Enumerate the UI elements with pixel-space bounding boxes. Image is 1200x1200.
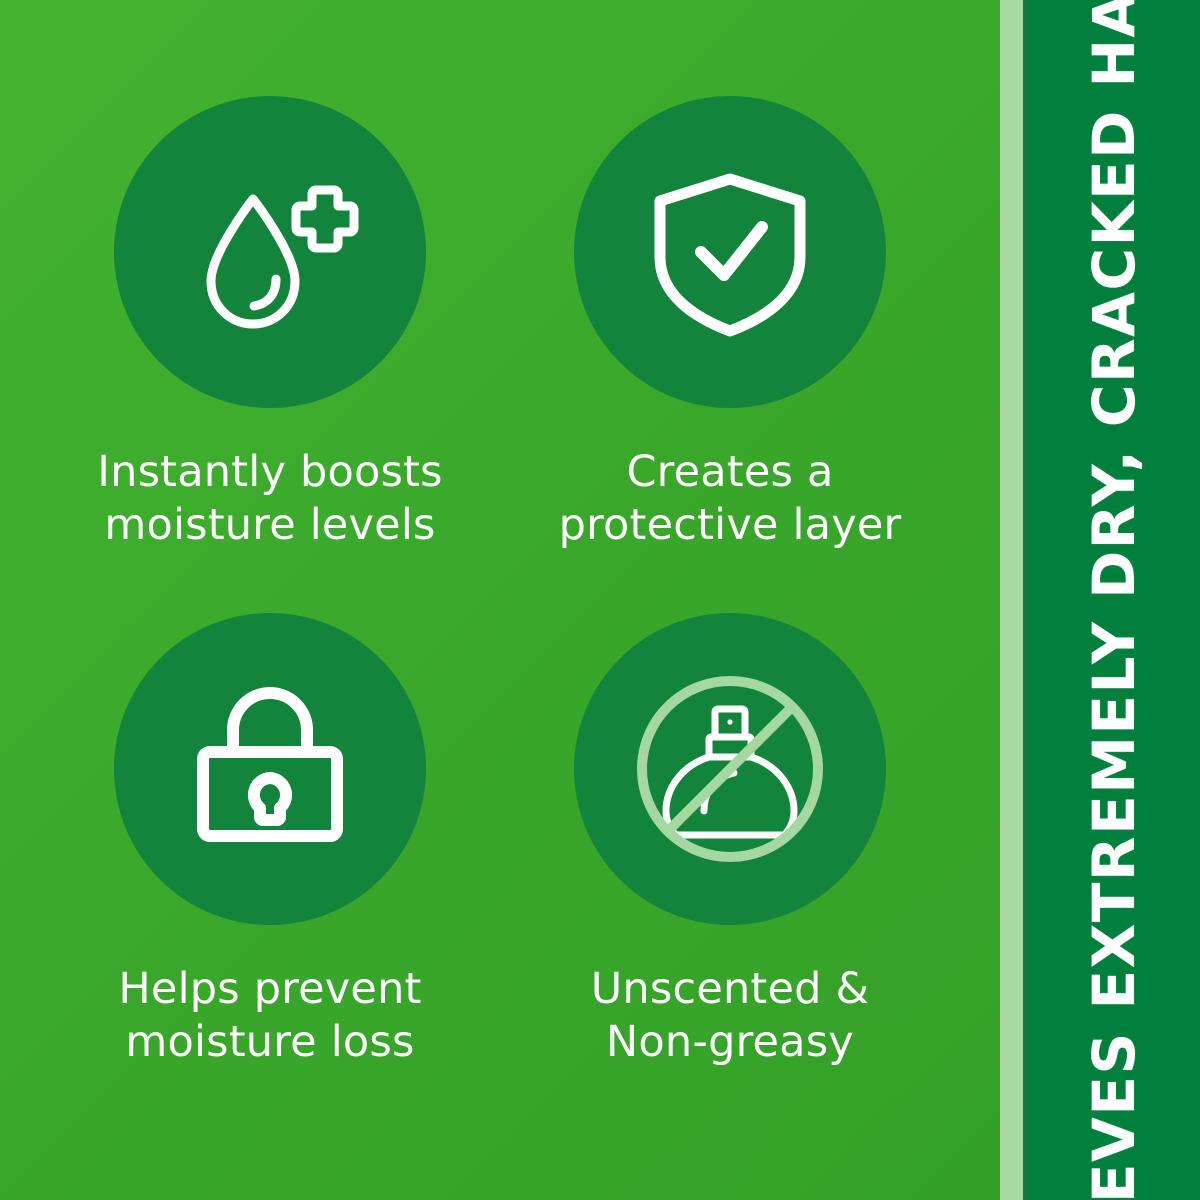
shield-check-icon	[635, 157, 825, 347]
product-benefits-infographic: Instantly boosts moisture levels Creates…	[0, 0, 1200, 1200]
benefit-item-creates-protective-layer: Creates a protective layer	[500, 96, 960, 613]
side-banner: RELIEVES EXTREMELY DRY, CRACKED HANDS	[1027, 0, 1200, 1200]
benefit-grid: Instantly boosts moisture levels Creates…	[0, 0, 1000, 1200]
icon-circle	[574, 613, 886, 925]
benefit-item-unscented-non-greasy: Unscented & Non-greasy	[500, 613, 960, 1130]
benefit-label: Creates a protective layer	[559, 446, 902, 553]
main-panel: Instantly boosts moisture levels Creates…	[0, 0, 1000, 1200]
benefit-label: Unscented & Non-greasy	[591, 963, 870, 1070]
icon-circle	[114, 96, 426, 408]
light-green-divider-strip	[1000, 0, 1023, 1200]
icon-circle	[114, 613, 426, 925]
padlock-icon	[175, 674, 365, 864]
water-drop-plus-icon	[175, 157, 365, 347]
benefit-item-instantly-boosts-moisture: Instantly boosts moisture levels	[40, 96, 500, 613]
icon-circle	[574, 96, 886, 408]
benefit-label: Instantly boosts moisture levels	[97, 446, 443, 553]
no-fragrance-bottle-icon	[626, 665, 834, 873]
benefit-item-helps-prevent-moisture-loss: Helps prevent moisture loss	[40, 613, 500, 1130]
benefit-label: Helps prevent moisture loss	[118, 963, 421, 1070]
side-banner-headline: RELIEVES EXTREMELY DRY, CRACKED HANDS	[1085, 0, 1143, 1200]
